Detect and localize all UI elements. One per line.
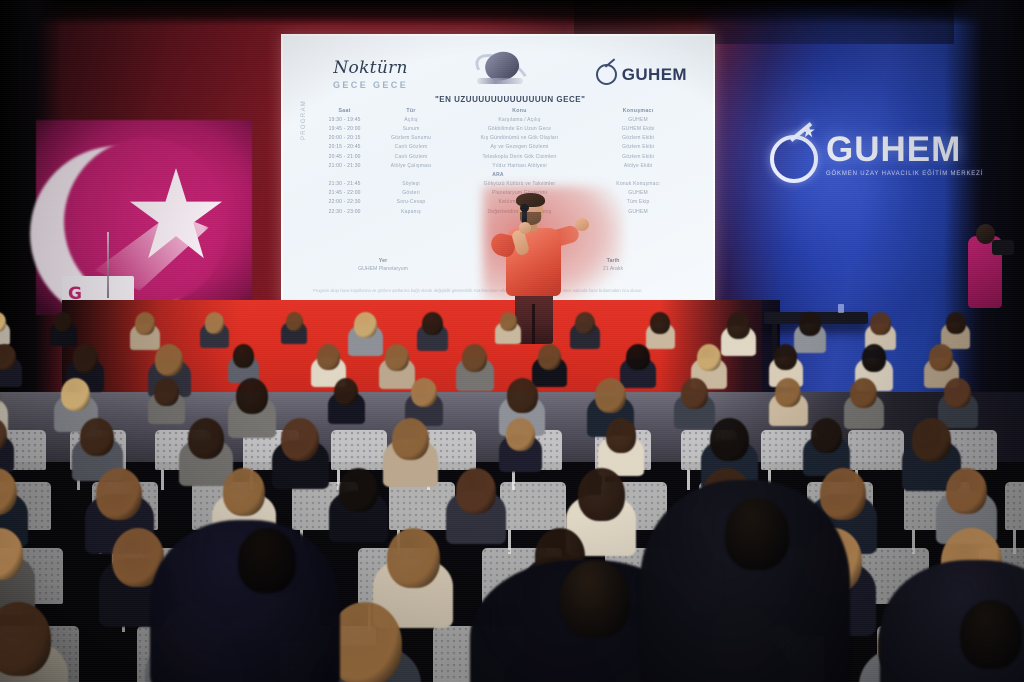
table-header-row: SaatTürKonuKonuşmacı <box>313 106 683 115</box>
audience-member-head <box>223 468 266 516</box>
audience-member-head <box>80 418 114 456</box>
slide-left-logo: Noktürn GECE GECE <box>333 58 408 90</box>
table-cell: Soru-Cevap <box>376 198 446 207</box>
microphone-stand <box>107 232 109 298</box>
foreground-head <box>560 560 630 638</box>
table-cell: Gözlem Ekibi <box>593 134 683 143</box>
audience-member-head <box>775 378 801 407</box>
audience-member-head <box>387 528 440 588</box>
audience-member-head <box>155 344 183 376</box>
audience-member-head <box>820 468 866 520</box>
slide-guhem-logo: GUHEM <box>596 64 687 85</box>
audience-member-head <box>507 378 538 413</box>
audience-member-head <box>606 418 637 453</box>
audience-member-head <box>422 312 443 335</box>
audience-member-head <box>73 344 98 373</box>
audience-member-head <box>385 344 409 371</box>
audience-member-head <box>456 468 496 514</box>
table-row: 20:45 - 21:00Canlı GözlemTeleskopla Deri… <box>313 152 683 161</box>
table-cell: Söyleşi <box>376 180 446 189</box>
footer-left-value: GUHEM Planetaryum <box>313 266 453 272</box>
chair-perforation <box>331 430 387 470</box>
audience-member-head <box>944 378 971 408</box>
audience-member-head <box>946 312 965 334</box>
table-cell: Karşılama / Açılış <box>446 115 593 124</box>
table-cell: 20:45 - 21:00 <box>313 152 376 161</box>
footer-left: Yer GUHEM Planetaryum <box>313 258 453 272</box>
table-cell: 20:00 - 20:15 <box>313 134 376 143</box>
table-cell: 20:15 - 20:45 <box>313 143 376 152</box>
wall-guhem-logo: GUHEM GÖKMEN UZAY HAVACILIK EĞİTİM MERKE… <box>770 132 983 183</box>
table-cell: GUHEM <box>593 115 683 124</box>
audience-member-head <box>595 378 626 413</box>
table-cell: Gözlem Ekibi <box>593 143 683 152</box>
table-cell: GUHEM Ekibi <box>593 124 683 133</box>
water-cup <box>838 304 844 313</box>
guhem-star-swoosh-icon <box>596 64 617 85</box>
audience-member-head <box>462 344 487 372</box>
table-cell: Atölye Ekibi <box>593 161 683 170</box>
table-row: 21:00 - 21:30Atölye ÇalışmasıYıldız Hari… <box>313 161 683 170</box>
table-cell: 21:30 - 21:45 <box>313 180 376 189</box>
audience-member-head <box>578 468 625 521</box>
audience-member-head <box>626 344 650 370</box>
chair-perforation <box>500 482 566 530</box>
table-break-row: ARA <box>313 170 683 179</box>
chair-perforation <box>848 430 904 470</box>
audience-member-head <box>799 312 821 336</box>
audience-member-head <box>317 344 340 370</box>
table-header-3: Konuşmacı <box>593 106 683 115</box>
audience-member-head <box>575 312 595 334</box>
audience-member-head <box>650 312 670 334</box>
presenter-mic-hand <box>519 222 531 234</box>
table-row: 20:15 - 20:45Canlı GözlemAy ve Gezegen G… <box>313 143 683 152</box>
table-cell: Gözlem Sunumu <box>376 134 446 143</box>
table-header-0: Saat <box>313 106 376 115</box>
foreground-head <box>960 600 1022 669</box>
audience-member-head <box>354 312 377 338</box>
audience-member-head <box>946 468 987 514</box>
presenter-leg-gap <box>532 304 535 344</box>
wall-guhem-wordmark: GUHEM <box>826 132 983 167</box>
table-cell: Kış Gündönümü ve Gök Olayları <box>446 134 593 143</box>
table-cell: Kapanış <box>376 207 446 216</box>
audience-member-head <box>286 312 303 331</box>
table-cell: 22:00 - 22:30 <box>313 198 376 207</box>
chair-leg <box>687 470 690 490</box>
slide-guhem-wordmark: GUHEM <box>622 65 687 85</box>
observatory-dome-icon <box>469 48 531 90</box>
audience-member-head <box>506 418 535 451</box>
table-header-2: Konu <box>446 106 593 115</box>
audience-member-head <box>862 344 887 372</box>
nokturn-wordmark: Noktürn <box>333 58 408 78</box>
audience-member-head <box>205 312 224 334</box>
audience-member-head <box>54 312 72 332</box>
audience-member-head <box>727 312 751 339</box>
table-row: 19:30 - 19:45AçılışKarşılama / AçılışGUH… <box>313 115 683 124</box>
table-cell: Teleskopla Derin Gök Cisimleri <box>446 152 593 161</box>
audience-member-head <box>135 312 155 335</box>
audience-member-head <box>912 418 951 462</box>
slide-title: "EN UZUUUUUUUUUUUUUN GECE" <box>435 95 565 104</box>
table-cell: Açılış <box>376 115 446 124</box>
table-cell: Gökbilimde En Uzun Gece <box>446 124 593 133</box>
audience-member-head <box>870 312 890 335</box>
guhem-star-swoosh-icon <box>770 135 818 183</box>
table-row: 20:00 - 20:15Gözlem SunumuKış Gündönümü … <box>313 134 683 143</box>
audience-member-head <box>188 418 224 459</box>
table-cell: Canlı Gözlem <box>376 152 446 161</box>
audience-member-head <box>334 378 358 405</box>
audience-member-head <box>850 378 877 408</box>
audience-member-head <box>500 312 517 331</box>
audience-member-head <box>154 378 179 406</box>
audience-member-head <box>0 602 51 676</box>
table-cell: Sunum <box>376 124 446 133</box>
audience-member-head <box>339 468 378 512</box>
presenter-right-hand <box>575 218 589 231</box>
foreground-head <box>238 528 296 593</box>
table-cell: 19:45 - 20:00 <box>313 124 376 133</box>
table-cell: Ay ve Gezegen Gözlemi <box>446 143 593 152</box>
slide-center-logo: "EN UZUUUUUUUUUUUUUN GECE" <box>435 48 565 104</box>
chair-perforation <box>1005 482 1024 530</box>
table-cell: 22:30 - 23:00 <box>313 207 376 216</box>
event-photo-scene: G Noktürn GECE GECE "EN UZUUUUUUUUUUUUUN… <box>0 0 1024 682</box>
table-cell: Yıldız Haritası Atölyesi <box>446 161 593 170</box>
table-header-1: Tür <box>376 106 446 115</box>
audience-member-head <box>697 344 721 371</box>
audience-member-head <box>774 344 797 370</box>
audience-member-head <box>236 378 268 414</box>
wall-guhem-tagline: GÖKMEN UZAY HAVACILIK EĞİTİM MERKEZİ <box>826 171 983 177</box>
table-cell: 21:00 - 21:30 <box>313 161 376 170</box>
table-cell: 19:30 - 19:45 <box>313 115 376 124</box>
audience-member-head <box>281 418 319 461</box>
audience-member-head <box>61 378 90 411</box>
audience-member-head <box>392 418 429 460</box>
table-cell: Atölye Çalışması <box>376 161 446 170</box>
table-cell: Canlı Gözlem <box>376 143 446 152</box>
slide-side-label: PROGRAM <box>301 100 307 140</box>
nokturn-subtitle: GECE GECE <box>333 80 408 90</box>
chair-leg <box>161 470 164 490</box>
audience-member-head <box>96 468 142 520</box>
audience-member-head <box>233 344 254 368</box>
audience-member-head <box>929 344 953 371</box>
video-camera-icon <box>992 240 1014 255</box>
foreground-head <box>725 498 789 570</box>
audience-member-head <box>710 418 748 461</box>
footer-left-heading: Yer <box>313 258 453 264</box>
audience-member-head <box>811 418 842 453</box>
audience-member-head <box>538 344 561 370</box>
microphone-head-icon <box>520 204 529 212</box>
table-cell: Gösteri <box>376 189 446 198</box>
table-row: 19:45 - 20:00SunumGökbilimde En Uzun Gec… <box>313 124 683 133</box>
table-cell: Gözlem Ekibi <box>593 152 683 161</box>
audience-member-head <box>681 378 708 409</box>
table-cell: 21:45 - 22:00 <box>313 189 376 198</box>
table-cell: ARA <box>313 170 683 179</box>
audience-member-head <box>411 378 437 407</box>
